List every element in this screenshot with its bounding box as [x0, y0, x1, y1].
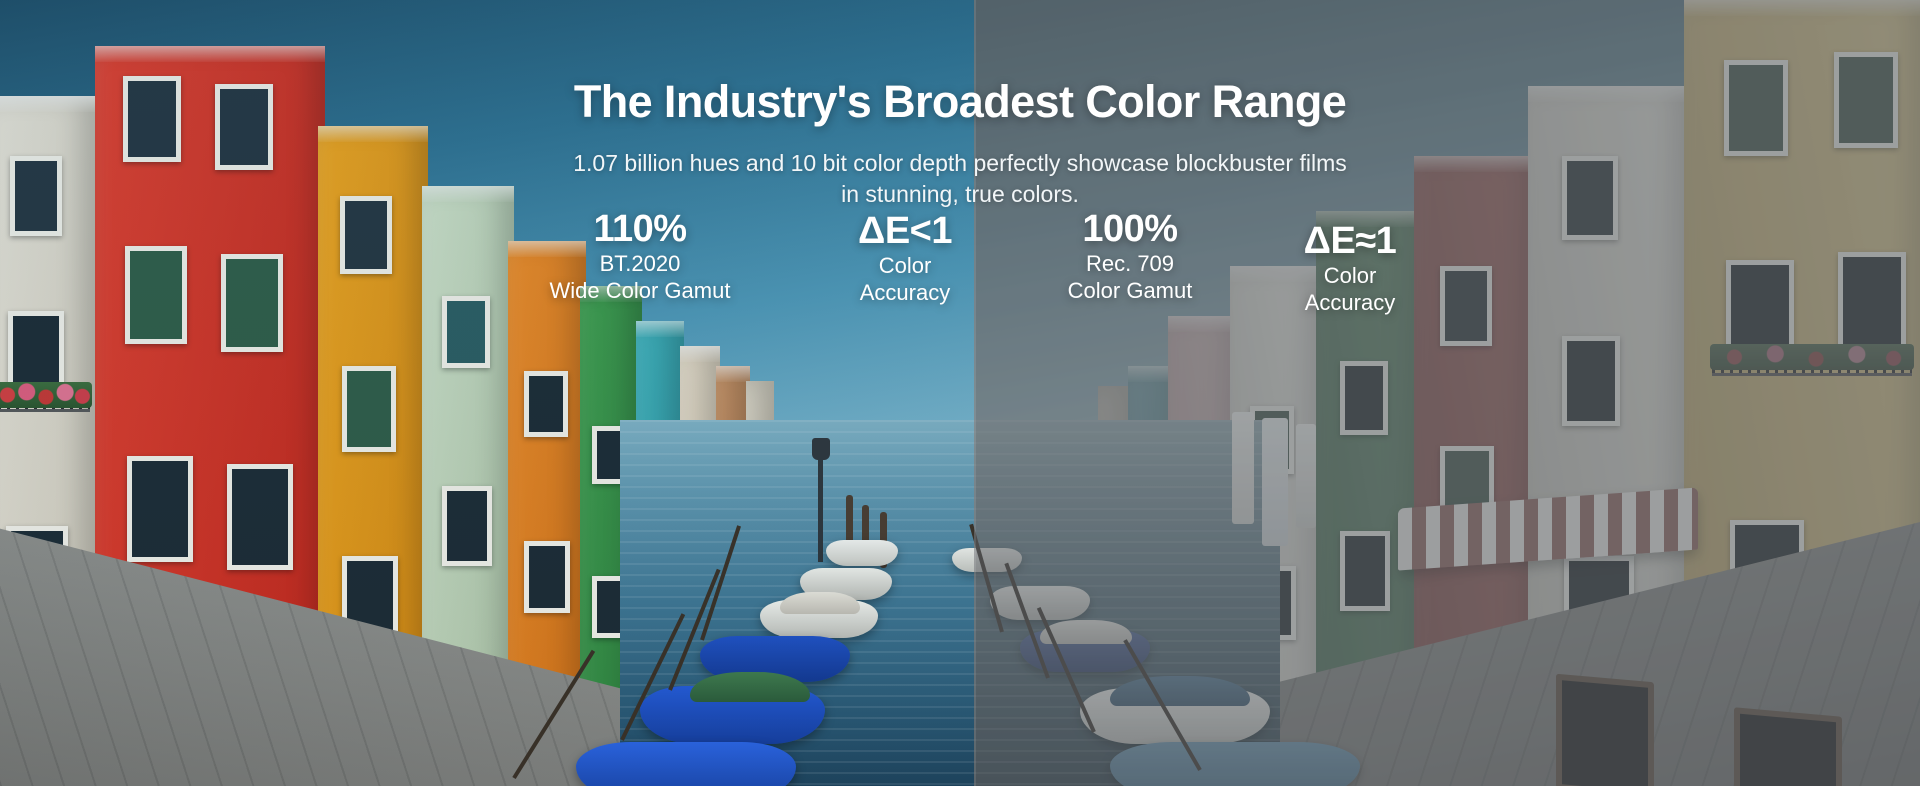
window — [127, 456, 193, 562]
roofline — [680, 346, 720, 362]
window — [10, 156, 62, 236]
window — [524, 371, 568, 437]
color-range-banner: The Industry's Broadest Color Range 1.07… — [0, 0, 1920, 786]
hanging-laundry — [1262, 418, 1288, 546]
window — [1562, 156, 1618, 240]
window — [1834, 52, 1898, 148]
window — [442, 486, 492, 566]
roofline — [1168, 316, 1238, 332]
roofline — [422, 186, 514, 202]
window — [227, 464, 293, 570]
lamp-head-icon — [812, 438, 830, 460]
roofline — [1414, 156, 1534, 172]
boat — [952, 548, 1022, 572]
window — [1440, 266, 1492, 346]
window — [1562, 336, 1620, 426]
boat — [826, 540, 898, 566]
roofline — [1230, 266, 1322, 282]
sidewalk-sign — [1556, 674, 1654, 786]
lamp-post — [818, 452, 823, 562]
window — [442, 296, 490, 368]
window — [215, 84, 273, 170]
roofline — [95, 46, 325, 62]
roofline — [508, 241, 586, 257]
window — [123, 76, 181, 162]
hanging-laundry — [1296, 424, 1316, 528]
boat-cover — [780, 592, 860, 614]
roofline — [636, 321, 684, 337]
roofline — [1684, 0, 1920, 16]
window — [340, 196, 392, 274]
roofline — [1528, 86, 1688, 102]
hanging-laundry — [1232, 412, 1254, 524]
window — [524, 541, 570, 613]
roofline — [0, 96, 95, 112]
roofline — [716, 366, 750, 382]
window — [1340, 361, 1388, 435]
window — [1838, 252, 1906, 356]
boat — [1110, 742, 1360, 786]
boat — [576, 742, 796, 786]
sidewalk-sign — [1734, 707, 1842, 786]
window — [221, 254, 283, 352]
roofline — [580, 286, 642, 302]
window — [342, 366, 396, 452]
window — [1340, 531, 1390, 611]
roofline — [318, 126, 428, 142]
roofline — [1316, 211, 1420, 227]
background-photo — [0, 0, 1920, 786]
flower-box — [0, 382, 92, 408]
window — [125, 246, 187, 344]
flower-box — [1710, 344, 1914, 370]
window — [1724, 60, 1788, 156]
